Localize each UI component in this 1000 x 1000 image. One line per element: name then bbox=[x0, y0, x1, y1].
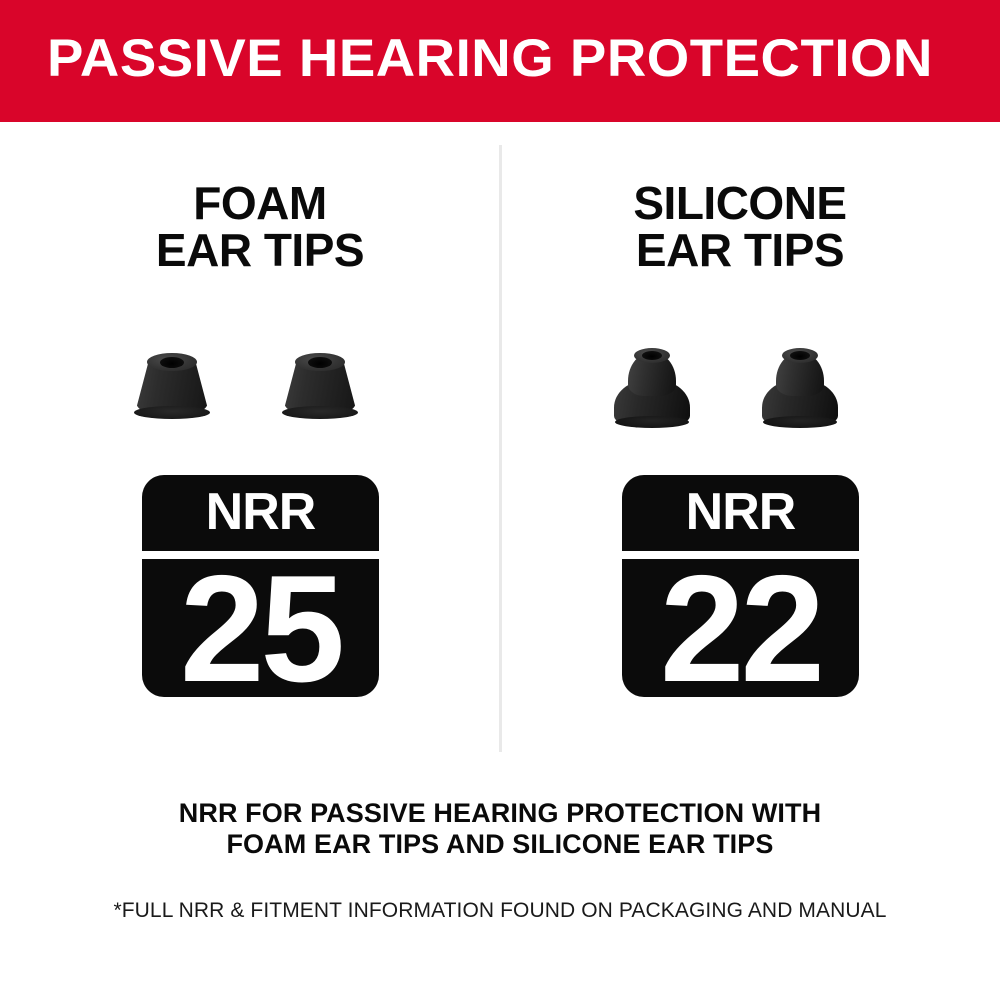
nrr-badge-silicone: NRR 22 bbox=[622, 475, 859, 697]
header-banner: PASSIVE HEARING PROTECTION bbox=[0, 0, 1000, 122]
foam-ear-tip-icon bbox=[124, 340, 220, 430]
silicone-tip-bore-hole bbox=[790, 351, 810, 360]
column-heading-foam: FOAM EAR TIPS bbox=[40, 180, 480, 274]
column-heading-foam-line2: EAR TIPS bbox=[40, 227, 480, 274]
nrr-value: 22 bbox=[622, 559, 859, 697]
foam-tip-bore-hole bbox=[160, 357, 184, 368]
foam-ear-tip-images bbox=[40, 330, 480, 440]
nrr-value: 25 bbox=[142, 559, 379, 697]
column-heading-foam-line1: FOAM bbox=[193, 177, 326, 229]
nrr-badge-foam-value-panel: 25 bbox=[142, 559, 379, 697]
foam-tip-bore-hole bbox=[308, 357, 332, 368]
silicone-ear-tip-images bbox=[520, 330, 960, 440]
nrr-label: NRR bbox=[142, 481, 379, 543]
nrr-badge-foam: NRR 25 bbox=[142, 475, 379, 697]
silicone-tip-bore-hole bbox=[642, 351, 662, 360]
nrr-badge-silicone-value-panel: 22 bbox=[622, 559, 859, 697]
caption-line2: FOAM EAR TIPS AND SILICONE EAR TIPS bbox=[0, 829, 1000, 860]
nrr-badge-foam-header: NRR bbox=[142, 475, 379, 551]
column-divider bbox=[499, 145, 502, 752]
foam-tip-base bbox=[282, 406, 358, 419]
infographic-page: PASSIVE HEARING PROTECTION FOAM EAR TIPS bbox=[0, 0, 1000, 1000]
nrr-label: NRR bbox=[622, 481, 859, 543]
silicone-tip-base bbox=[763, 416, 837, 428]
footnote: *FULL NRR & FITMENT INFORMATION FOUND ON… bbox=[0, 898, 1000, 923]
caption-line1: NRR FOR PASSIVE HEARING PROTECTION WITH bbox=[179, 798, 821, 828]
foam-tip-base bbox=[134, 406, 210, 419]
silicone-ear-tip-icon bbox=[604, 340, 700, 430]
page-title: PASSIVE HEARING PROTECTION bbox=[47, 30, 980, 88]
caption: NRR FOR PASSIVE HEARING PROTECTION WITH … bbox=[0, 798, 1000, 860]
silicone-ear-tip-icon bbox=[752, 340, 848, 430]
foam-ear-tip-icon bbox=[272, 340, 368, 430]
column-silicone: SILICONE EAR TIPS NRR bbox=[520, 180, 960, 720]
column-heading-silicone-line1: SILICONE bbox=[633, 177, 846, 229]
column-heading-silicone: SILICONE EAR TIPS bbox=[520, 180, 960, 274]
silicone-tip-base bbox=[615, 416, 689, 428]
column-heading-silicone-line2: EAR TIPS bbox=[520, 227, 960, 274]
nrr-badge-silicone-header: NRR bbox=[622, 475, 859, 551]
column-foam: FOAM EAR TIPS NRR 25 bbox=[40, 180, 480, 720]
